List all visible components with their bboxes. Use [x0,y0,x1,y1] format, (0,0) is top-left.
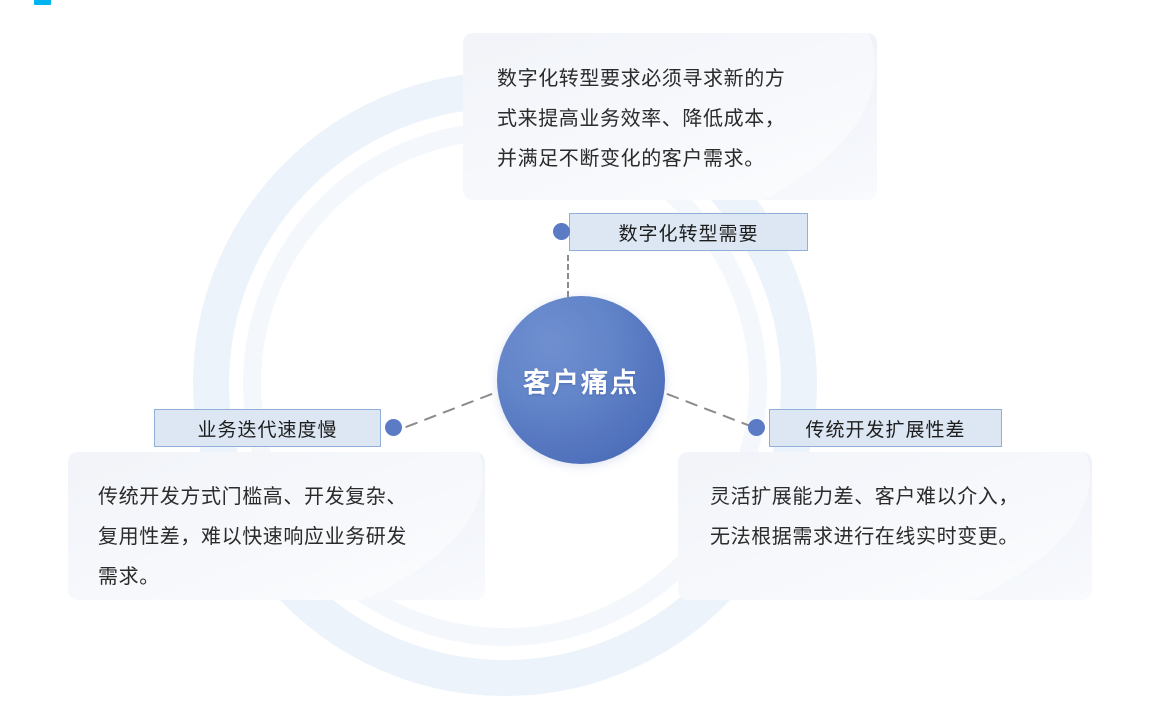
node-dot-poor-scalability [748,419,765,436]
description-text: 灵活扩展能力差、客户难以介入， 无法根据需求进行在线实时变更。 [710,477,1060,557]
node-dot-digital-transformation [553,223,570,240]
node-label-poor-scalability[interactable]: 传统开发扩展性差 [769,409,1002,447]
node-dot-slow-iteration [385,419,402,436]
center-node-label: 客户痛点 [523,361,639,400]
node-label-slow-iteration[interactable]: 业务迭代速度慢 [154,409,381,447]
accent-chip-marker [34,0,51,5]
description-card-poor-scalability: 灵活扩展能力差、客户难以介入， 无法根据需求进行在线实时变更。 [678,452,1092,600]
node-label-digital-transformation[interactable]: 数字化转型需要 [569,213,808,251]
node-label-text: 数字化转型需要 [570,219,807,246]
description-text: 数字化转型要求必须寻求新的方 式来提高业务效率、降低成本， 并满足不断变化的客户… [497,59,843,179]
description-card-digital-transformation: 数字化转型要求必须寻求新的方 式来提高业务效率、降低成本， 并满足不断变化的客户… [463,33,877,200]
node-label-text: 业务迭代速度慢 [155,415,380,442]
connector-top-dashed-line [567,255,569,297]
description-text: 传统开发方式门槛高、开发复杂、 复用性差，难以快速响应业务研发 需求。 [98,477,455,597]
node-label-text: 传统开发扩展性差 [770,415,1001,442]
center-node-customer-pain-points[interactable]: 客户痛点 [497,296,665,464]
diagram-canvas: 数字化转型要求必须寻求新的方 式来提高业务效率、降低成本， 并满足不断变化的客户… [0,0,1150,724]
description-card-slow-iteration: 传统开发方式门槛高、开发复杂、 复用性差，难以快速响应业务研发 需求。 [68,452,485,600]
